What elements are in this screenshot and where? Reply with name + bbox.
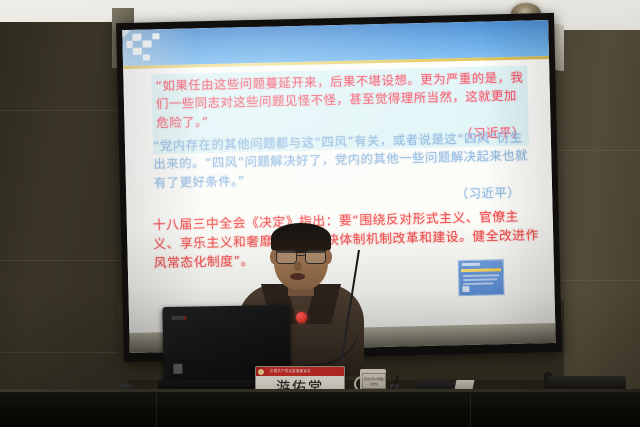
thumbnail-title-bar (462, 263, 480, 266)
desk-front-panel (0, 392, 640, 427)
slide-quote-2-text: “党内存在的其他问题都与这“四风”有关，或者说是这“四风”衍生出来的。“四风”问… (153, 130, 528, 190)
nameplate-emblem-icon (258, 369, 264, 375)
laptop-badge-icon (173, 364, 182, 374)
presenter-mouth (290, 273, 305, 280)
right-wall (552, 30, 640, 427)
nameplate-band: 中国共产党反腐倡廉宣讲 (256, 367, 344, 376)
slide-quote-2: “党内存在的其他问题都与这“四风”有关，或者说是这“四风”衍生出来的。“四风”问… (153, 128, 537, 210)
thumbnail-chip (462, 286, 469, 292)
presenter-nose (294, 262, 302, 271)
glasses-bridge (296, 255, 305, 256)
glasses-lens-right (305, 250, 326, 264)
laptop-indicator-icon (184, 317, 187, 320)
slide-header-blocks (126, 31, 185, 62)
glasses-lens-left (276, 250, 297, 264)
slide-quote-1-text: “如果任由这些问题蔓延开来，后果不堪设想。更为严重的是，我们一些同志对这些问题见… (155, 70, 523, 130)
thumbnail-accent-rule (461, 268, 501, 272)
glasses-icon (275, 250, 327, 263)
nameplate-organization: 中国共产党反腐倡廉宣讲 (270, 368, 311, 373)
slide-embedded-thumbnail (458, 259, 505, 296)
lecture-hall-scene: “如果任由这些问题蔓延开来，后果不堪设想。更为严重的是，我们一些同志对这些问题见… (0, 0, 640, 427)
left-wall (0, 22, 128, 427)
microphone-windscreen-icon (296, 312, 307, 323)
